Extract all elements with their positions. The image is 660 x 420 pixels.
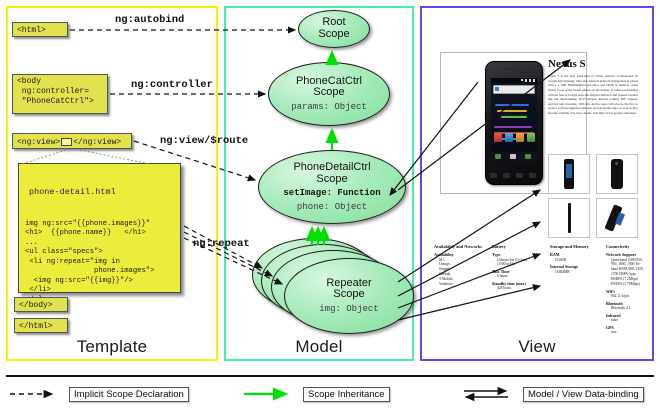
ngview-close-tag: </ng:view> xyxy=(73,138,121,147)
phone-speaker xyxy=(504,68,524,70)
dashed-arrow-icon xyxy=(8,386,64,402)
legend-item-scope-inheritance: Scope Inheritance xyxy=(242,386,390,402)
legend-label: Scope Inheritance xyxy=(303,387,390,402)
connection-label-autobind: ng:autobind xyxy=(115,14,184,26)
spec-table: Availability and Networks Availability M… xyxy=(434,244,640,349)
legend-label: Model / View Data-binding xyxy=(523,387,644,402)
spec-heading: Connectivity xyxy=(606,244,654,249)
thumbnail-gallery xyxy=(548,154,640,238)
code-box-html-close: </html> xyxy=(14,318,68,333)
spec-column-battery: Battery Type Lithium Ion (Li-Ion) (1500 … xyxy=(492,244,542,291)
scope-repeater-prop-img: img: Object xyxy=(319,304,378,314)
connection-label-controller: ng:controller xyxy=(131,79,213,91)
spec-value: 802.11 b/g/n xyxy=(611,294,654,299)
thumbnail-nexus-s-side[interactable] xyxy=(548,198,590,238)
spec-value: Vodafone xyxy=(439,282,482,287)
phone-detail-filename: phone-detail.html xyxy=(23,186,176,200)
spec-value: HSUPA (5.76Mbps) xyxy=(611,282,654,287)
phone-search-widget xyxy=(493,85,535,94)
code-box-ngview: <ng:view></ng:view> xyxy=(12,133,132,149)
phone-screen xyxy=(491,78,537,161)
thumbnail-nexus-s-front[interactable] xyxy=(548,154,590,194)
spec-value: true xyxy=(611,330,654,335)
legend-divider xyxy=(6,375,654,377)
double-arrow-icon xyxy=(462,386,518,402)
scope-repeater-name: RepeaterScope xyxy=(326,278,371,302)
spec-value: 16384MB xyxy=(555,270,602,275)
nexus-s-phone-render xyxy=(485,61,543,185)
code-box-phone-detail: phone-detail.html img ng:src="{{phone.im… xyxy=(18,163,181,293)
phone-app-dock xyxy=(491,133,537,148)
spec-heading: Battery xyxy=(492,244,542,249)
ngview-open-tag: <ng:view> xyxy=(17,138,60,147)
thumbnail-nexus-s-back[interactable] xyxy=(596,154,638,194)
spec-value: Bluetooth 2.1 xyxy=(611,306,654,311)
phone-statusbar xyxy=(491,78,537,83)
connection-label-repeat: ng:repeat xyxy=(193,238,250,250)
phone-hardware-buttons xyxy=(490,172,538,181)
section-template-label: Template xyxy=(8,337,216,357)
phone-navbar xyxy=(491,152,537,161)
diagram-canvas: Template Model View <html> <body ng:cont… xyxy=(0,0,660,420)
spec-value: 428 hours xyxy=(497,286,542,291)
spec-value: 6 hours xyxy=(497,274,542,279)
scope-repeater: RepeaterScope img: Object xyxy=(284,258,414,334)
spec-heading: Availability and Networks xyxy=(434,244,482,249)
legend-label: Implicit Scope Declaration xyxy=(69,387,189,402)
scope-phonedetailctrl: PhoneDetailCtrlScope setImage: Function … xyxy=(258,150,406,224)
ngview-placeholder-icon xyxy=(61,138,72,146)
legend-item-model-view-data-binding: Model / View Data-binding xyxy=(462,386,644,402)
scope-repeater-stack: RepeaterScope img: Object xyxy=(252,238,412,338)
spec-column-connectivity: Connectivity Network Support Quad-band G… xyxy=(606,244,654,335)
scope-phonedetailctrl-prop-phone: phone: Object xyxy=(297,202,367,212)
spec-column-storage: Storage and Memory RAM 512MB Internal St… xyxy=(550,244,602,274)
scope-phonecatctrl-name: PhoneCatCtrlScope xyxy=(296,76,362,100)
connection-label-ngview-route: ng:view/$route xyxy=(160,135,248,147)
code-box-body-open: <body ng:controller= "PhoneCatCtrl"> xyxy=(12,74,108,114)
spec-value: 512MB xyxy=(555,258,602,263)
legend-item-implicit-scope-declaration: Implicit Scope Declaration xyxy=(8,386,189,402)
scope-phonecatctrl: PhoneCatCtrlScope params: Object xyxy=(268,62,390,126)
scope-phonedetailctrl-prop-setimage: setImage: Function xyxy=(283,188,380,198)
spec-heading: Storage and Memory xyxy=(550,244,602,249)
spec-value: (1500 mAh) xyxy=(497,262,542,267)
scope-root: RootScope xyxy=(298,10,370,48)
section-model-label: Model xyxy=(226,337,412,357)
scope-phonedetailctrl-name: PhoneDetailCtrlScope xyxy=(293,162,370,186)
product-description: Nexus S is the next generation of Nexus … xyxy=(548,74,638,116)
spec-column-availability: Availability and Networks Availability M… xyxy=(434,244,482,287)
thumbnail-nexus-s-angled[interactable] xyxy=(596,198,638,238)
spec-value: false xyxy=(611,318,654,323)
green-arrow-icon xyxy=(242,386,298,402)
product-title: Nexus S xyxy=(548,58,586,70)
scope-phonecatctrl-prop-params: params: Object xyxy=(291,102,367,112)
view-rendered-page: Nexus S Nexus S is the next generation o… xyxy=(430,16,644,336)
code-box-html-open: <html> xyxy=(12,22,68,37)
scope-root-name: RootScope xyxy=(318,17,349,41)
code-box-body-close: </body> xyxy=(14,297,68,312)
